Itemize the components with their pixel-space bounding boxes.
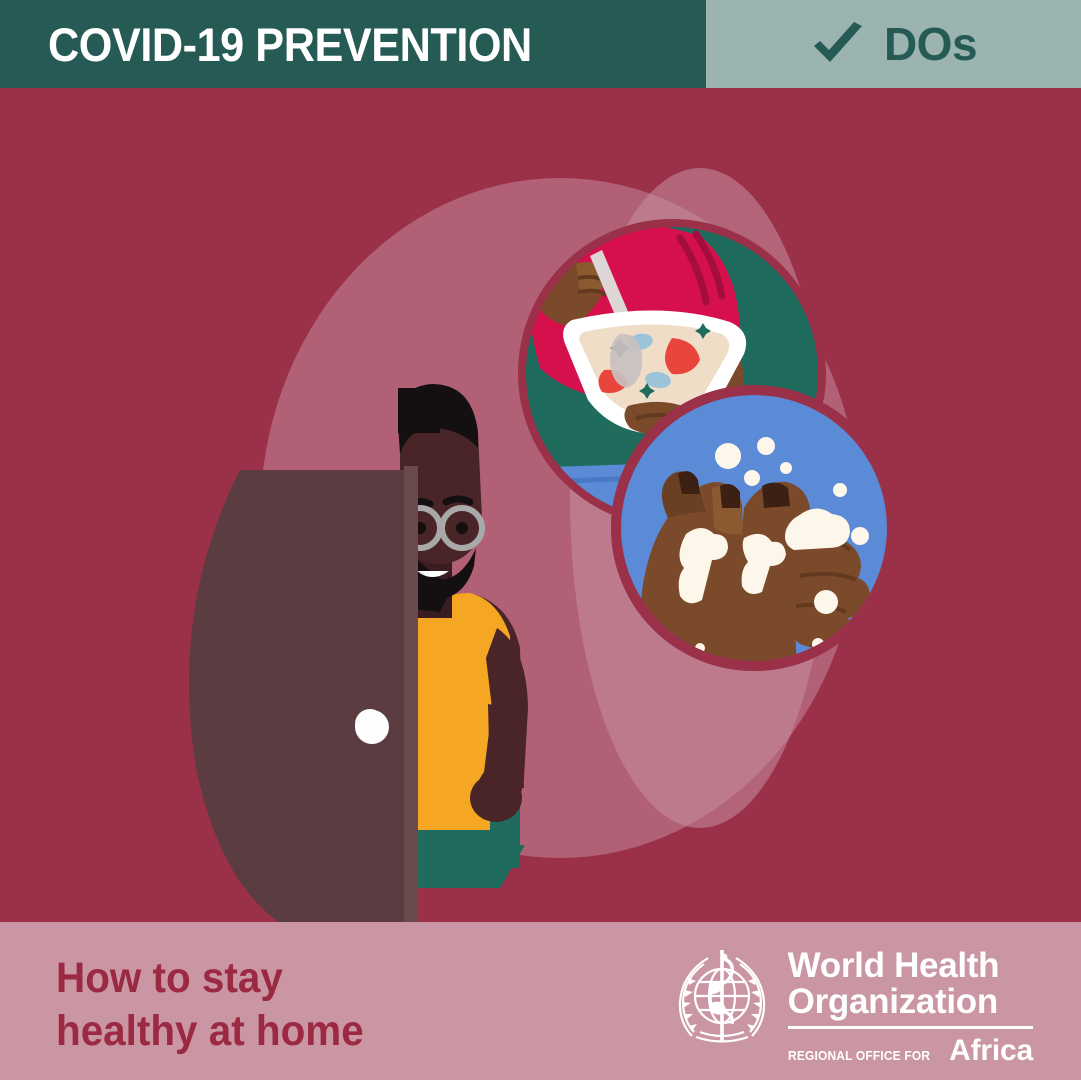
- who-logo-text: World Health Organization REGIONAL OFFIC…: [788, 940, 1033, 1068]
- eye-right: [456, 522, 468, 534]
- header-left-panel: COVID-19 PREVENTION: [0, 0, 706, 88]
- handwash-circle-inset: [611, 385, 897, 671]
- page-title: COVID-19 PREVENTION: [48, 17, 532, 72]
- who-logo: World Health Organization REGIONAL OFFIC…: [666, 940, 1033, 1068]
- footer-tagline: How to stay healthy at home: [56, 952, 364, 1058]
- poster: COVID-19 PREVENTION DOs Remember to wash…: [0, 0, 1081, 1080]
- who-region-name: Africa: [949, 1034, 1033, 1068]
- eyebrow-right: [446, 499, 470, 502]
- door-edge: [404, 466, 418, 922]
- fist: [470, 774, 522, 822]
- who-emblem-icon: [666, 940, 778, 1052]
- illustration-artwork: [0, 88, 1081, 922]
- check-icon: [810, 22, 866, 66]
- dos-label: DOs: [884, 17, 977, 71]
- who-region-prefix: REGIONAL OFFICE FOR: [788, 1048, 930, 1063]
- dos-badge: DOs: [706, 0, 1081, 88]
- who-divider: [788, 1026, 1033, 1029]
- who-organization-name: World Health Organization: [788, 948, 1033, 1020]
- who-region-line: REGIONAL OFFICE FOR Africa: [788, 1034, 1033, 1068]
- footer-bar: How to stay healthy at home: [0, 922, 1081, 1080]
- header-bar: COVID-19 PREVENTION DOs: [0, 0, 1081, 88]
- illustration-svg: [0, 88, 1081, 922]
